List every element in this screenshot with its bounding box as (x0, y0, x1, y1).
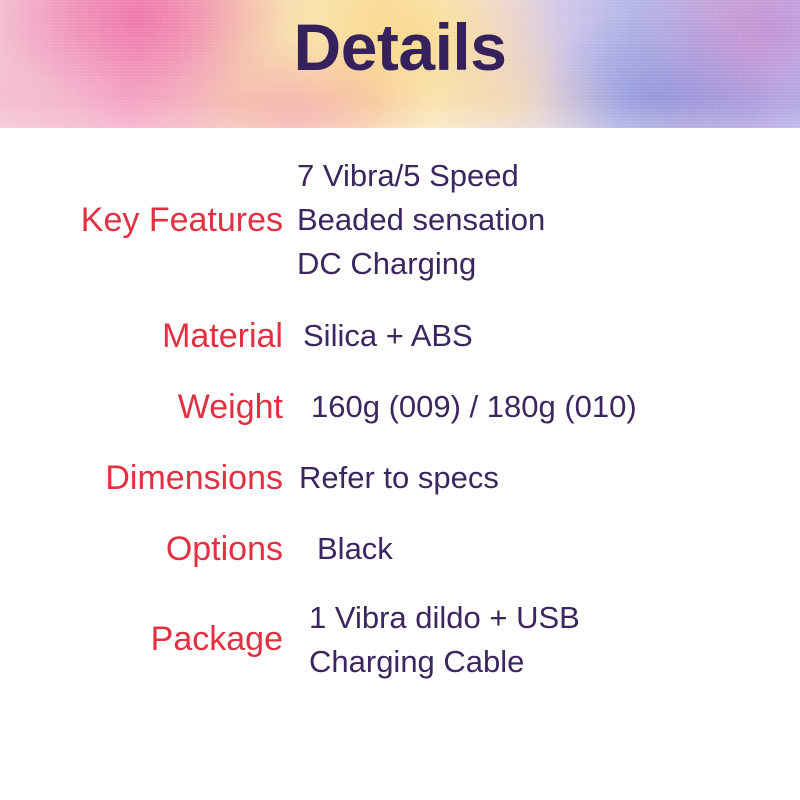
spec-value-line: DC Charging (297, 242, 800, 286)
spec-row-weight: Weight 160g (009) / 180g (010) (0, 385, 800, 430)
spec-row-key-features: Key Features 7 Vibra/5 Speed Beaded sens… (0, 154, 800, 286)
spec-label-package: Package (0, 617, 283, 662)
spec-label-options: Options (0, 527, 283, 572)
spec-value-line: 1 Vibra dildo + USB (309, 596, 800, 640)
spec-row-material: Material Silica + ABS (0, 314, 800, 359)
spec-value-line: Black (317, 527, 800, 571)
spec-value-line: Silica + ABS (303, 314, 800, 358)
page-header-banner: Details (0, 0, 800, 128)
spec-row-package: Package 1 Vibra dildo + USB Charging Cab… (0, 596, 800, 684)
spec-table: Key Features 7 Vibra/5 Speed Beaded sens… (0, 128, 800, 684)
spec-row-options: Options Black (0, 527, 800, 572)
spec-value-line: Beaded sensation (297, 198, 800, 242)
spec-label-weight: Weight (0, 385, 283, 430)
spec-value-options: Black (283, 527, 800, 571)
spec-label-material: Material (0, 314, 283, 359)
spec-value-key-features: 7 Vibra/5 Speed Beaded sensation DC Char… (283, 154, 800, 286)
details-page: Details Key Features 7 Vibra/5 Speed Bea… (0, 0, 800, 800)
spec-row-dimensions: Dimensions Refer to specs (0, 456, 800, 501)
spec-value-line: 160g (009) / 180g (010) (311, 385, 800, 429)
spec-label-key-features: Key Features (0, 198, 283, 243)
spec-value-weight: 160g (009) / 180g (010) (283, 385, 800, 429)
spec-value-package: 1 Vibra dildo + USB Charging Cable (283, 596, 800, 684)
spec-value-line: Charging Cable (309, 640, 800, 684)
spec-label-dimensions: Dimensions (0, 456, 283, 501)
page-title: Details (0, 14, 800, 80)
spec-value-dimensions: Refer to specs (283, 456, 800, 500)
spec-value-material: Silica + ABS (283, 314, 800, 358)
spec-value-line: 7 Vibra/5 Speed (297, 154, 800, 198)
spec-value-line: Refer to specs (299, 456, 800, 500)
